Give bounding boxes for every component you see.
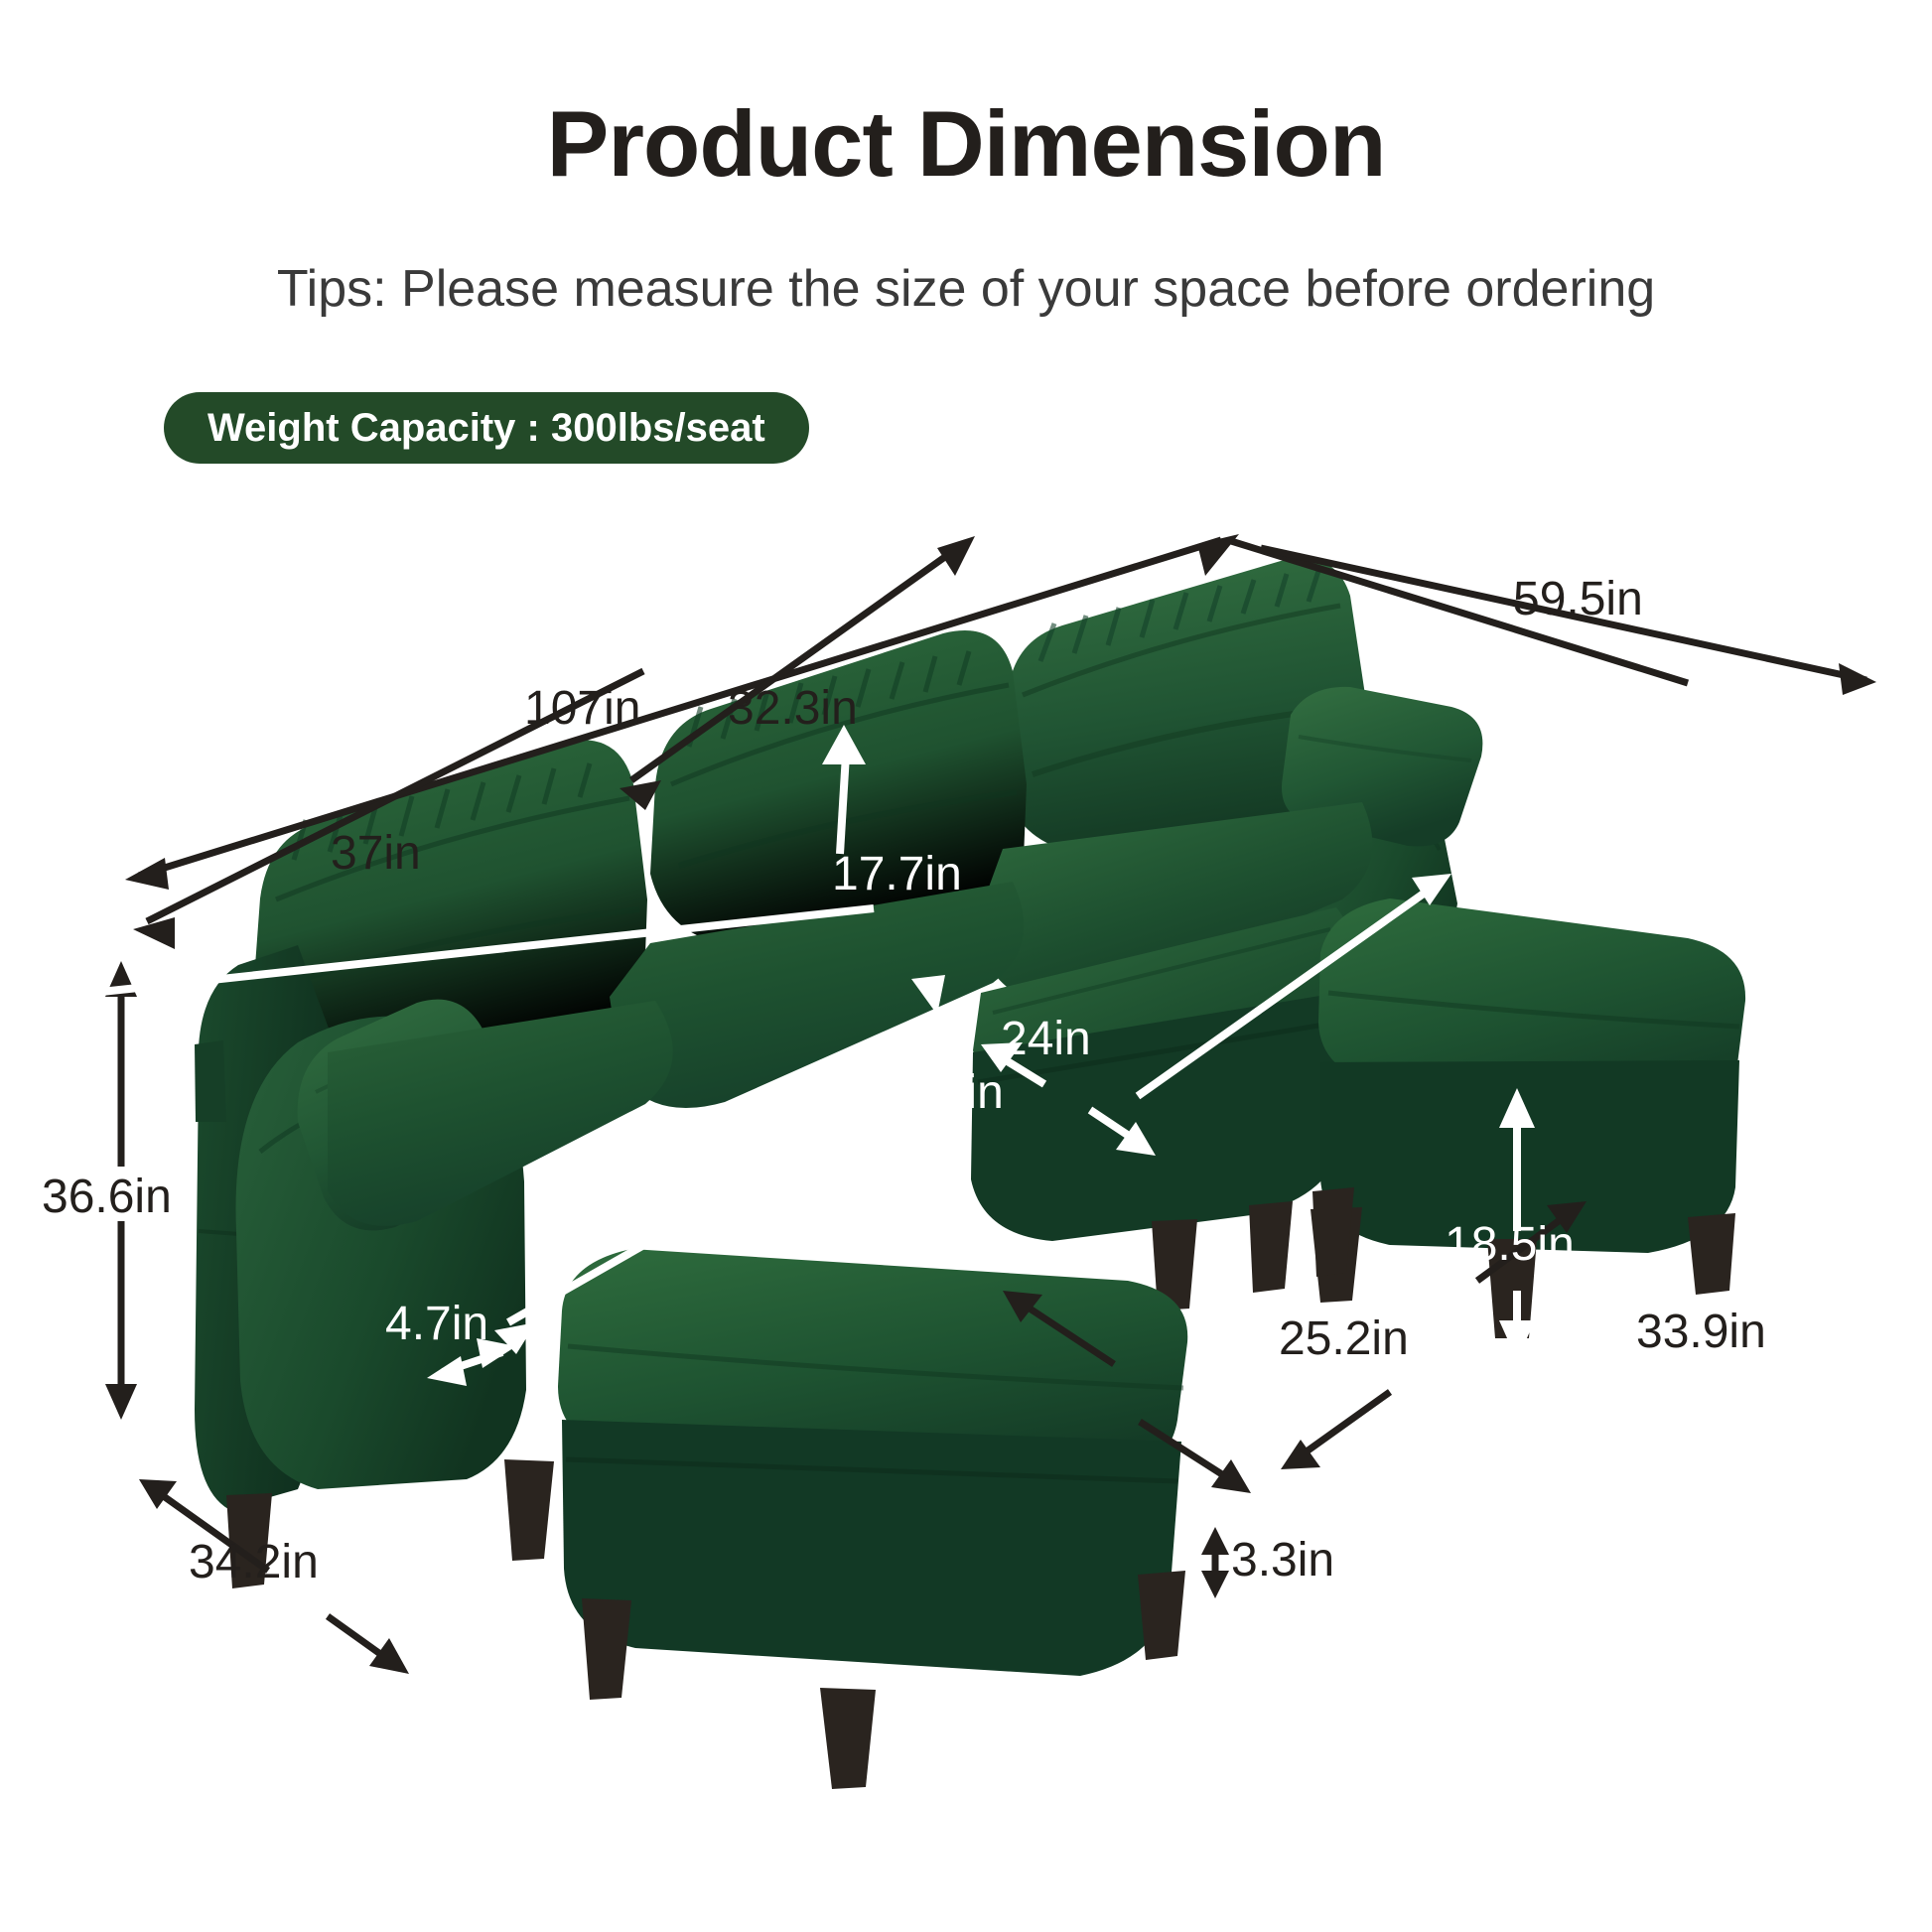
dimension-label-side-depth: 34.2in [189, 1539, 319, 1587]
dimension-label-ottoman-depth: 33.9in [1636, 1309, 1766, 1356]
dimension-label-seating-length: 97.6in [874, 1069, 1004, 1117]
dimension-label-backrest-height: 17.7in [832, 851, 962, 898]
ottoman-leg [1138, 1571, 1185, 1660]
dimension-label-leg-height: 3.3in [1231, 1537, 1334, 1585]
product-illustration: 107in 32.3in 59.5in 37in 17.7in 24in 36.… [0, 0, 1932, 1932]
dimension-label-ottoman-width: 25.2in [1279, 1315, 1409, 1363]
dimension-label-seat-section-length: 32.3in [728, 685, 858, 733]
ottoman-leg [820, 1688, 876, 1789]
dimension-label-overall-length: 107in [524, 685, 640, 733]
product-dimension-infographic: Product Dimension Tips: Please measure t… [0, 0, 1932, 1932]
dimension-label-seat-depth: 24in [1001, 1016, 1091, 1063]
ottoman-leg [582, 1598, 631, 1700]
sofa-artwork [0, 0, 1932, 1932]
dimension-label-chaise-depth: 59.5in [1513, 576, 1643, 623]
dimension-label-overall-height: 36.6in [42, 1173, 172, 1221]
dimension-label-arm-to-arm: 37in [331, 830, 421, 878]
ottoman-leg [1688, 1213, 1735, 1295]
dimension-label-arm-width: 4.7in [385, 1301, 488, 1348]
front-ottoman [558, 1249, 1187, 1789]
dimension-label-seat-height: 18.5in [1445, 1221, 1575, 1269]
